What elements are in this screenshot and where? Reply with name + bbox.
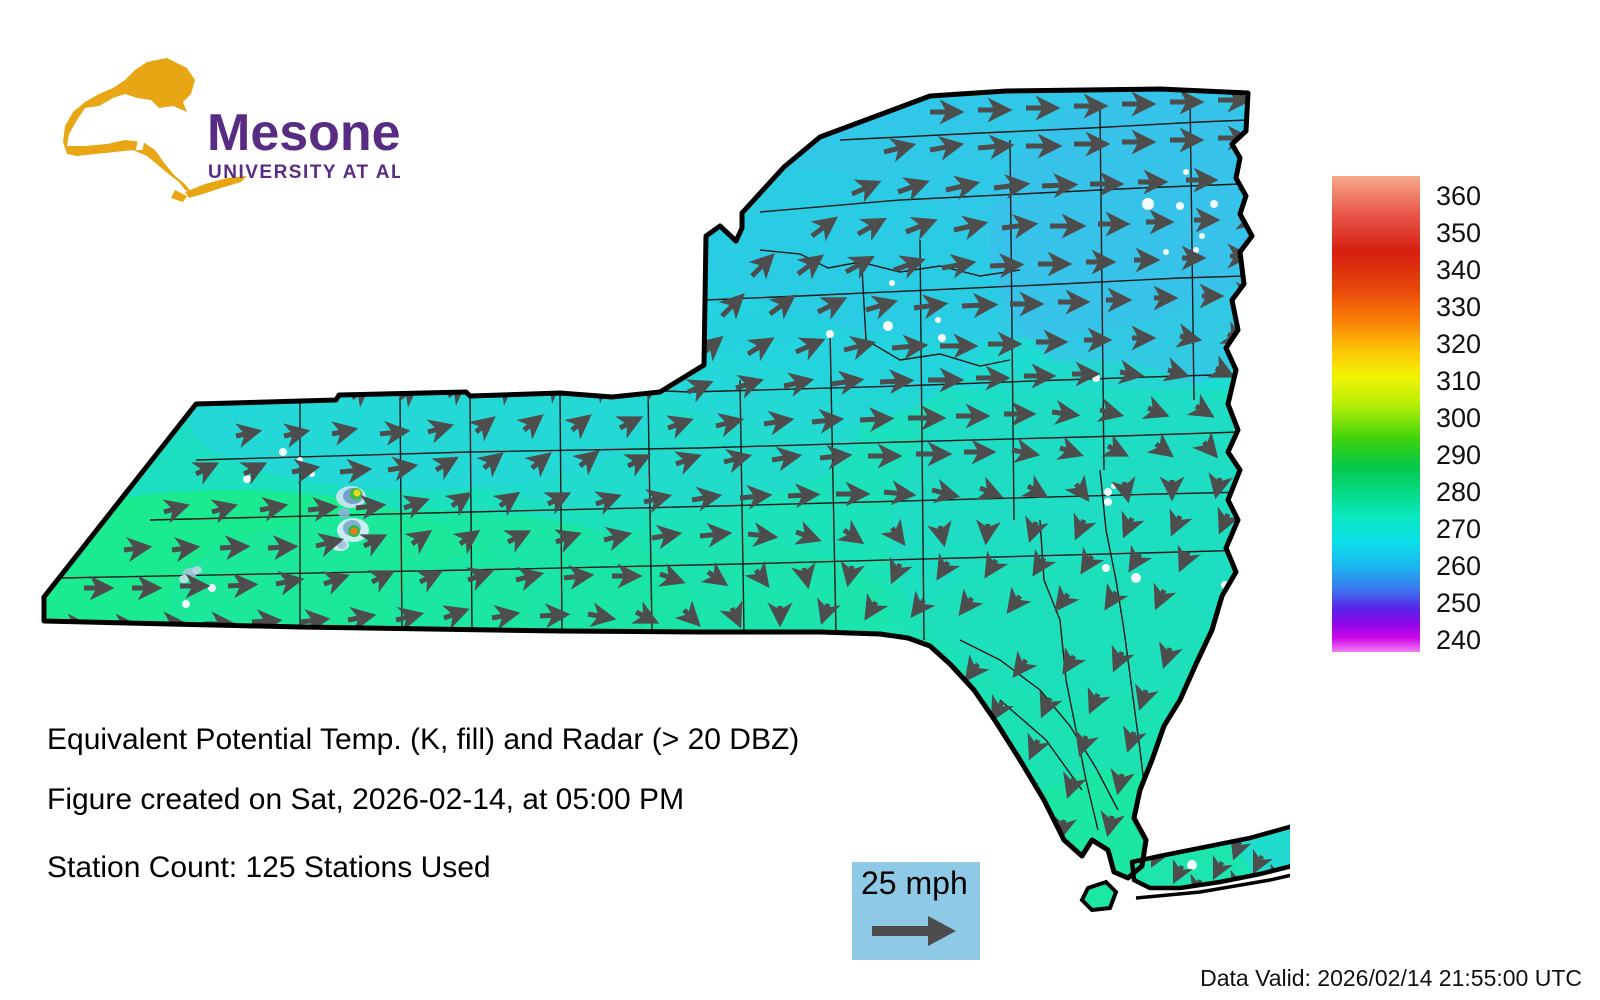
colorbar-tick-310: 310 [1436, 368, 1481, 395]
figure-created-text: Figure created on Sat, 2026-02-14, at 05… [47, 785, 684, 815]
colorbar-tick-360: 360 [1436, 183, 1481, 210]
colorbar-tick-350: 350 [1436, 220, 1481, 247]
colorbar-tick-320: 320 [1436, 331, 1481, 358]
colorbar-tick-290: 290 [1436, 442, 1481, 469]
colorbar-tick-250: 250 [1436, 590, 1481, 617]
figure-title: Equivalent Potential Temp. (K, fill) and… [47, 725, 799, 755]
radar-echo-cell [336, 486, 366, 508]
colorbar-tick-300: 300 [1436, 405, 1481, 432]
colorbar-tick-330: 330 [1436, 294, 1481, 321]
colorbar: 360 350 340 330 320 310 300 290 280 270 … [1332, 176, 1492, 656]
wind-key-label: 25 mph [861, 866, 968, 900]
station-count-text: Station Count: 125 Stations Used [47, 853, 491, 883]
data-valid-text: Data Valid: 2026/02/14 21:55:00 UTC [1200, 965, 1582, 992]
colorbar-tick-270: 270 [1436, 516, 1481, 543]
colorbar-tick-260: 260 [1436, 553, 1481, 580]
wind-key-arrow-icon [872, 914, 962, 948]
colorbar-gradient [1332, 176, 1420, 652]
wind-speed-key: 25 mph [852, 862, 980, 960]
colorbar-tick-280: 280 [1436, 479, 1481, 506]
colorbar-tick-340: 340 [1436, 257, 1481, 284]
staten-island [1082, 882, 1116, 910]
map-panel [0, 0, 1290, 960]
radar-echo-cell [338, 508, 350, 518]
theta-e-map [0, 0, 1290, 960]
colorbar-tick-240: 240 [1436, 627, 1481, 654]
radar-echo-cell [331, 539, 349, 551]
radar-echo-cell [337, 518, 369, 542]
